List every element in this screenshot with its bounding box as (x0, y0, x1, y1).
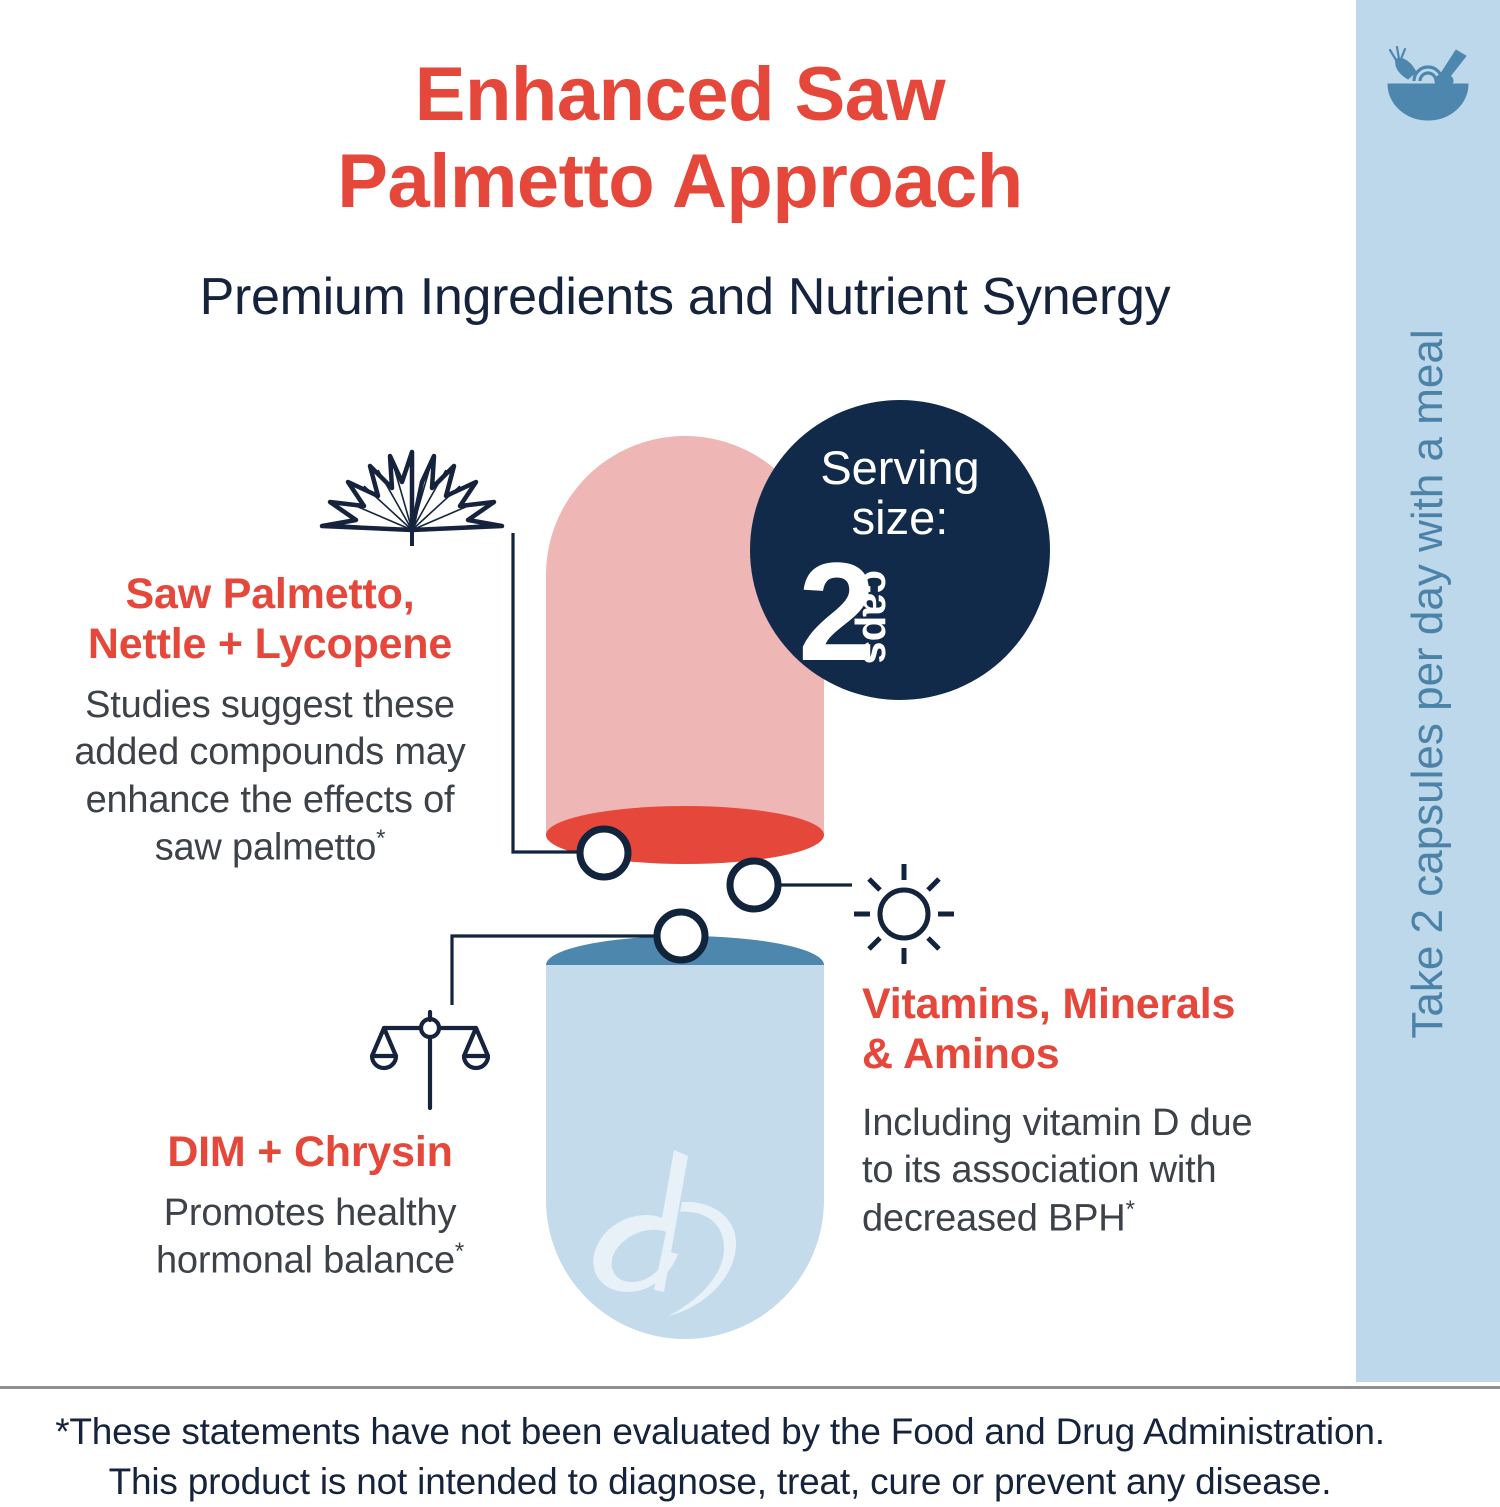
page-title-line-1: Enhanced Saw (60, 52, 1300, 139)
callout-saw-palmetto-body-text: Studies suggest these added compounds ma… (74, 684, 465, 869)
callout-dim-chrysin: DIM + Chrysin Promotes healthy hormonal … (120, 1128, 500, 1286)
sidebar-vertical-text: Take 2 capsules per day with a meal (1380, 104, 1476, 1264)
palm-leaf-icon (312, 442, 512, 546)
callout-vitamins-minerals-aminos: Vitamins, Minerals & Aminos Including vi… (862, 980, 1292, 1243)
footer-disclaimer-line2: This product is not intended to diagnose… (0, 1457, 1440, 1507)
sidebar-instruction-panel: Take 2 capsules per day with a meal (1356, 0, 1500, 1382)
callout-saw-palmetto: Saw Palmetto, Nettle + Lycopene Studies … (50, 570, 490, 872)
footer-disclaimer-line1: *These statements have not been evaluate… (0, 1407, 1440, 1457)
callout-saw-palmetto-title: Saw Palmetto, Nettle + Lycopene (50, 570, 490, 670)
callout-saw-palmetto-body: Studies suggest these added compounds ma… (50, 682, 490, 873)
serving-size-label-line2: size: (750, 494, 1050, 542)
footnote-marker: * (455, 1238, 464, 1265)
callout-dim-chrysin-body-text: Promotes healthy hormonal balance (156, 1192, 456, 1282)
callout-dim-chrysin-title: DIM + Chrysin (120, 1128, 500, 1178)
callout-vitamins-title-line2: & Aminos (862, 1030, 1292, 1080)
capsule-top-rim (546, 806, 824, 864)
page-subtitle: Premium Ingredients and Nutrient Synergy (40, 268, 1330, 328)
footer-disclaimer: *These statements have not been evaluate… (0, 1386, 1500, 1503)
callout-vitamins-body: Including vitamin D due to its associati… (862, 1100, 1292, 1243)
serving-size-unit-wrap: caps (850, 570, 898, 690)
page-title-line-2: Palmetto Approach (60, 139, 1300, 226)
serving-size-unit: caps (854, 570, 901, 664)
footnote-marker: * (376, 825, 385, 852)
brand-logo-watermark (578, 1140, 768, 1320)
infographic-page: Take 2 capsules per day with a meal Enha… (0, 0, 1500, 1500)
serving-size-label-line1: Serving (750, 444, 1050, 492)
callout-saw-palmetto-title-line2: Nettle + Lycopene (50, 620, 490, 670)
page-title: Enhanced Saw Palmetto Approach (60, 52, 1300, 225)
callout-vitamins-body-text: Including vitamin D due to its associati… (862, 1102, 1252, 1240)
callout-saw-palmetto-title-line1: Saw Palmetto, (50, 570, 490, 620)
sun-icon (852, 862, 956, 966)
footer-disclaimer-text: *These statements have not been evaluate… (0, 1407, 1440, 1507)
sidebar-instruction-label: Take 2 capsules per day with a meal (1403, 329, 1453, 1038)
footnote-marker: * (1126, 1196, 1135, 1223)
callout-dim-chrysin-body: Promotes healthy hormonal balance* (120, 1190, 500, 1286)
balance-scale-icon (370, 1008, 490, 1112)
serving-size-badge: Serving size: 2 caps (750, 400, 1050, 700)
callout-vitamins-title-line1: Vitamins, Minerals (862, 980, 1292, 1030)
callout-vitamins-title: Vitamins, Minerals & Aminos (862, 980, 1292, 1080)
